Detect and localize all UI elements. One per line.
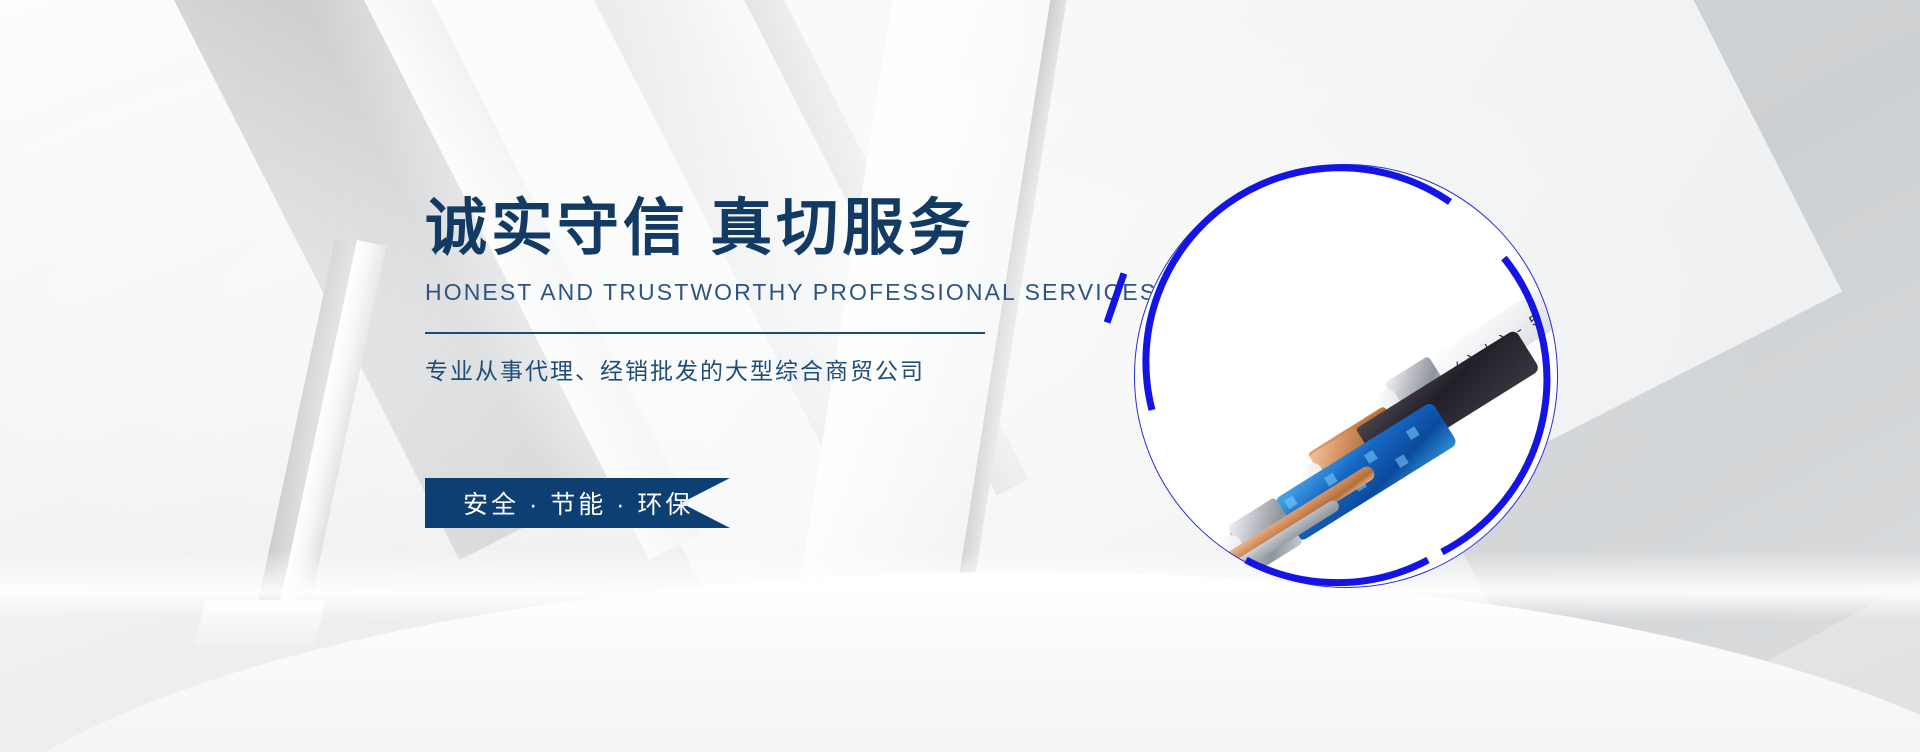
subheadline: HONEST AND TRUSTWORTHY PROFESSIONAL SERV… bbox=[425, 279, 1065, 306]
hero-banner: 诚实守信 真切服务 HONEST AND TRUSTWORTHY PROFESS… bbox=[0, 0, 1920, 752]
headline: 诚实守信 真切服务 bbox=[425, 196, 1065, 261]
product-medallion: / \ | ) - 5 bbox=[1128, 158, 1564, 594]
product-photo: / \ | ) - 5 bbox=[1134, 164, 1558, 588]
divider-rule bbox=[425, 332, 985, 334]
hero-copy: 诚实守信 真切服务 HONEST AND TRUSTWORTHY PROFESS… bbox=[425, 196, 1065, 386]
background-floor-line bbox=[0, 550, 1920, 620]
description-text: 专业从事代理、经销批发的大型综合商贸公司 bbox=[425, 352, 1065, 386]
feature-ribbon-label: 安全 · 节能 · 环保 bbox=[463, 485, 693, 521]
